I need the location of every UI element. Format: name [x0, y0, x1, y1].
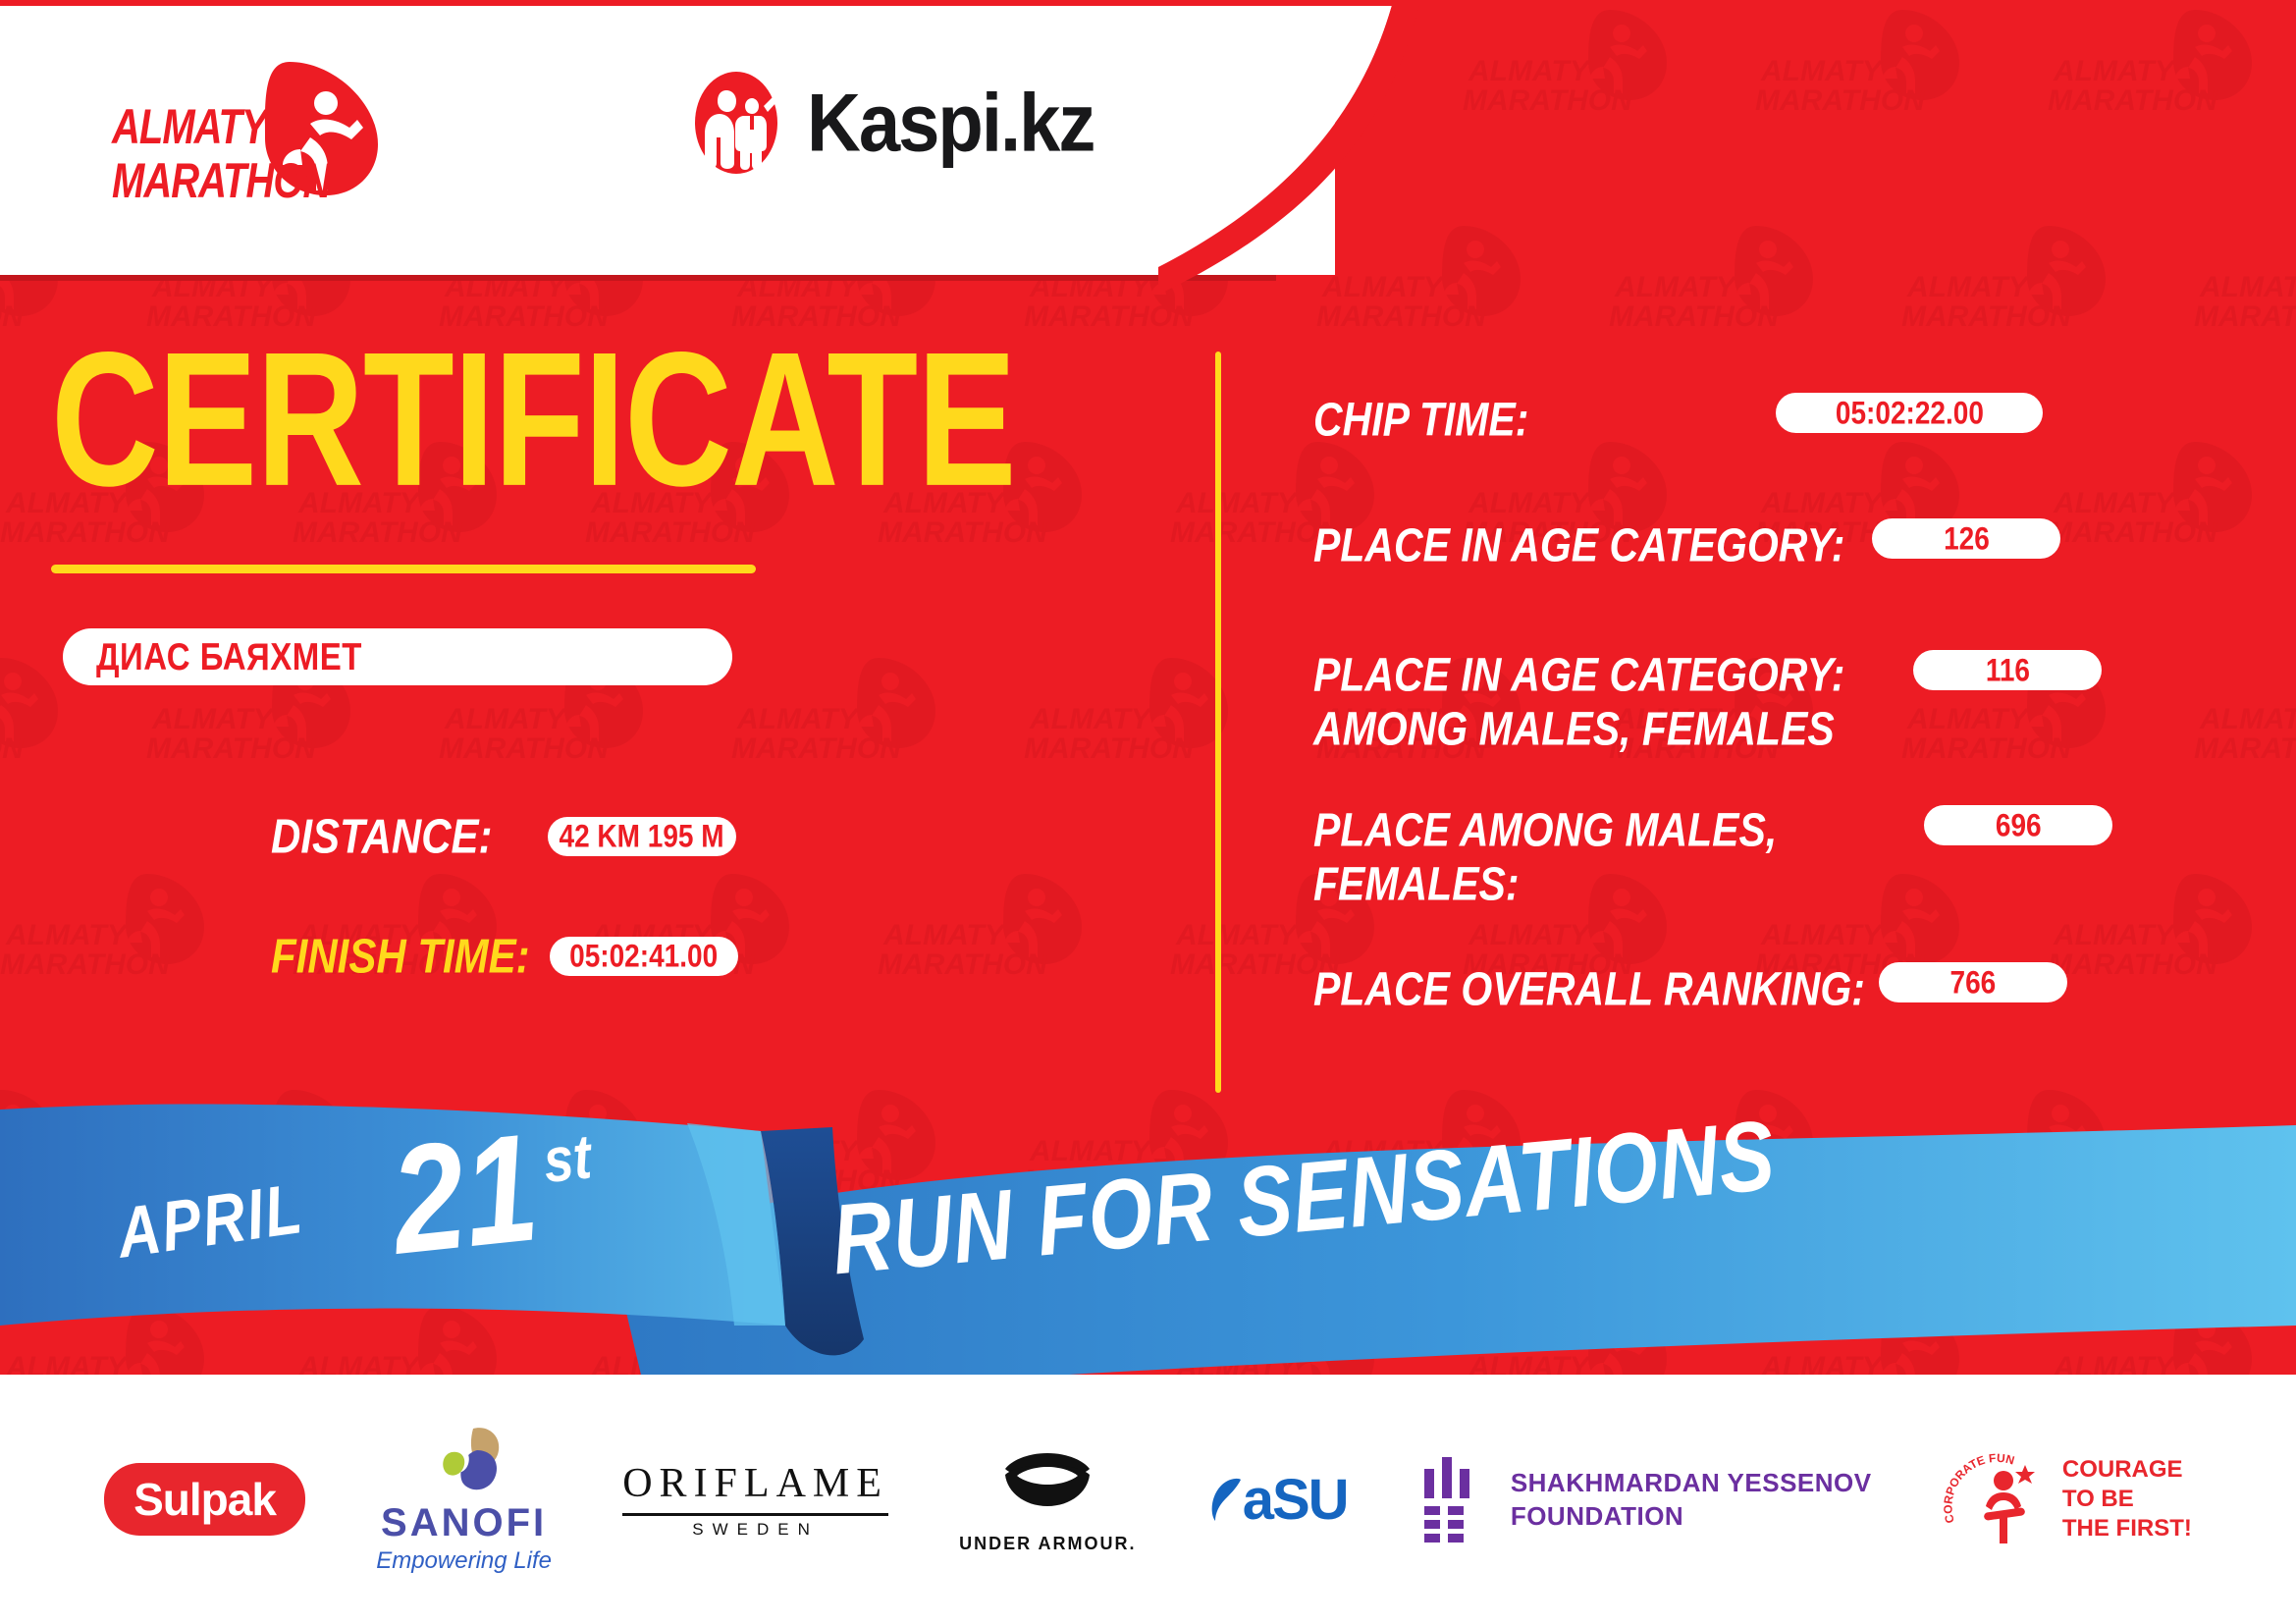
place-overall-value: 766: [1950, 964, 1997, 1001]
header-curve-shape: [1158, 0, 1571, 295]
sponsor-asu: aSU: [1207, 1467, 1348, 1533]
courage-line-3: THE FIRST!: [2062, 1514, 2192, 1543]
place-age-category-value: 126: [1944, 520, 1990, 557]
kaspi-logo-text: Kaspi.kz: [807, 76, 1094, 170]
result-row-chip-time: CHIP TIME: 05:02:22.00: [1313, 393, 2043, 439]
almaty-marathon-logo: ALMATY MARATHON: [118, 59, 442, 211]
oriflame-name: ORIFLAME: [622, 1460, 888, 1507]
place-age-category-gender-label: PLACE IN AGE CATEGORY: AMONG MALES, FEMA…: [1313, 648, 1844, 756]
place-age-category-gender-value-pill: 116: [1913, 650, 2102, 690]
result-row-place-age-category: PLACE IN AGE CATEGORY: 126: [1313, 518, 2060, 565]
sanofi-tagline: Empowering Life: [376, 1547, 552, 1575]
place-among-gender-label: PLACE AMONG MALES, FEMALES:: [1313, 803, 1777, 911]
distance-label: DISTANCE:: [271, 809, 493, 865]
finish-time-row: FINISH TIME: 05:02:41.00: [271, 933, 738, 980]
sponsor-sanofi: SANOFI Empowering Life: [376, 1425, 552, 1575]
participant-name-field: ДИАС БАЯХМЕТ: [63, 628, 732, 685]
svg-text:MARATHON: MARATHON: [1755, 84, 1926, 117]
yessenov-line-2: FOUNDATION: [1511, 1499, 1872, 1533]
finish-time-label: FINISH TIME:: [271, 929, 530, 985]
sanofi-logo-icon: [422, 1425, 507, 1497]
place-among-gender-value: 696: [1996, 807, 2042, 843]
under-armour-logo-icon: [974, 1445, 1121, 1526]
sanofi-name: SANOFI: [376, 1501, 552, 1545]
kaspi-logo-icon: [687, 69, 785, 177]
sponsor-under-armour: UNDER ARMOUR.: [959, 1445, 1136, 1554]
result-row-place-age-category-gender: PLACE IN AGE CATEGORY: AMONG MALES, FEMA…: [1313, 648, 2102, 740]
distance-row: DISTANCE: 42 KM 195 M: [271, 813, 736, 860]
logo-line-marathon: MARATHON: [112, 154, 330, 208]
oriflame-tagline: SWEDEN: [622, 1520, 888, 1540]
sponsor-oriflame: ORIFLAME SWEDEN: [622, 1460, 888, 1540]
place-age-category-gender-value: 116: [1986, 652, 2030, 688]
chip-time-value-pill: 05:02:22.00: [1776, 393, 2043, 433]
place-overall-label: PLACE OVERALL RANKING:: [1313, 962, 1865, 1016]
left-column: CERTIFICATE ДИАС БАЯХМЕТ DISTANCE: 42 KM…: [0, 295, 1217, 1178]
svg-text:ALMATY: ALMATY: [1760, 55, 1885, 87]
result-row-place-overall: PLACE OVERALL RANKING: 766: [1313, 962, 2067, 1008]
result-row-place-among-gender: PLACE AMONG MALES, FEMALES: 696: [1313, 803, 2112, 895]
sponsor-courage-fund: CORPORATE FUND COURAGE TO BE THE FIRST!: [1943, 1445, 2192, 1553]
courage-line-2: TO BE: [2062, 1485, 2192, 1514]
under-armour-name: UNDER ARMOUR.: [959, 1534, 1136, 1554]
top-red-edge: [0, 0, 2296, 6]
sponsor-sulpak: Sulpak: [104, 1463, 305, 1536]
page-title: CERTIFICATE: [51, 324, 1016, 515]
sponsor-yessenov-foundation: SHAKHMARDAN YESSENOV FOUNDATION: [1418, 1455, 1872, 1543]
svg-text:MARATHON: MARATHON: [2048, 84, 2218, 117]
results-column: CHIP TIME: 05:02:22.00 PLACE IN AGE CATE…: [1276, 295, 2296, 1178]
courage-fund-logo-icon: CORPORATE FUND: [1943, 1445, 2051, 1553]
yessenov-logo-icon: [1418, 1455, 1489, 1543]
sulpak-logo-text: Sulpak: [104, 1463, 305, 1536]
place-age-category-value-pill: 126: [1872, 518, 2060, 559]
certificate-page: ALMATYMARATHONALMATYMARATHONALMATYMARATH…: [0, 0, 2296, 1624]
place-age-category-label: PLACE IN AGE CATEGORY:: [1313, 518, 1844, 572]
title-underline: [51, 565, 756, 573]
distance-value: 42 KM 195 M: [560, 819, 724, 855]
finish-time-value-pill: 05:02:41.00: [550, 937, 738, 976]
place-among-gender-value-pill: 696: [1924, 805, 2112, 845]
svg-text:ALMATY: ALMATY: [2053, 55, 2177, 87]
kaspi-logo: Kaspi.kz: [687, 69, 1094, 177]
courage-line-1: COURAGE: [2062, 1455, 2192, 1485]
sponsor-bar: Sulpak SANOFI Empowering Life ORIFLAME S…: [0, 1375, 2296, 1624]
logo-line-almaty: ALMATY: [112, 100, 330, 154]
chip-time-label: CHIP TIME:: [1313, 393, 1528, 447]
column-divider: [1215, 352, 1221, 1093]
participant-name-text: ДИАС БАЯХМЕТ: [96, 635, 362, 679]
oriflame-rule: [622, 1513, 888, 1516]
distance-value-pill: 42 KM 195 M: [548, 817, 736, 856]
asu-logo-icon: [1207, 1470, 1243, 1529]
asu-name: aSU: [1243, 1467, 1348, 1533]
place-overall-value-pill: 766: [1879, 962, 2067, 1002]
chip-time-value: 05:02:22.00: [1836, 395, 1984, 431]
finish-time-value: 05:02:41.00: [569, 939, 718, 975]
yessenov-line-1: SHAKHMARDAN YESSENOV: [1511, 1466, 1872, 1499]
